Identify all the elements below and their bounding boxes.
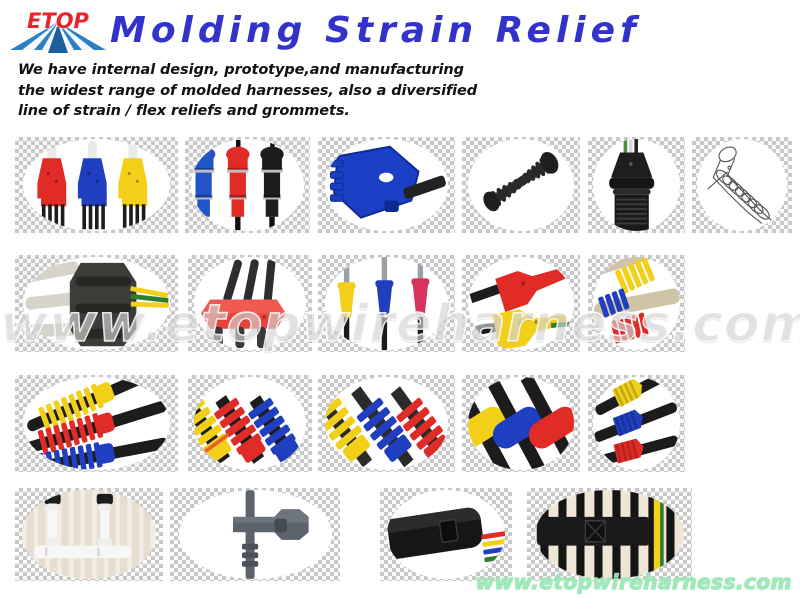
product-image-line-drawing-spring-relief[interactable]: [692, 137, 792, 233]
product-illustration: [191, 139, 304, 231]
image-vignette: [23, 139, 170, 231]
logo-wordmark-text: ETOP: [27, 9, 90, 33]
intro-paragraph: We have internal design, prototype,and m…: [18, 60, 658, 122]
image-vignette: [325, 257, 448, 350]
etop-logo: ETOP: [8, 8, 108, 60]
product-image-blue-red-yellow-accordion-reliefs[interactable]: [588, 255, 685, 352]
product-illustration: [325, 377, 448, 470]
product-illustration: [22, 490, 155, 579]
product-image-blue-red-black-round-connectors[interactable]: [185, 137, 310, 233]
product-image-red-blue-yellow-plug-overmolds[interactable]: [15, 137, 178, 233]
product-image-blue-fan-shaped-strain-relief[interactable]: [318, 137, 455, 233]
intro-line-3: line of strain / flex reliefs and gromme…: [18, 101, 658, 122]
image-vignette: [468, 257, 574, 350]
product-image-yellow-blue-red-cable-clips[interactable]: [462, 375, 580, 472]
row-2: [0, 255, 800, 352]
product-illustration: [697, 139, 787, 231]
image-vignette: [194, 377, 306, 470]
product-image-black-multi-cable-block[interactable]: [527, 488, 692, 581]
product-illustration: [593, 139, 680, 231]
product-illustration: [325, 257, 448, 350]
row-3: [0, 375, 800, 472]
product-image-white-tee-cable-mounts[interactable]: [15, 488, 163, 581]
image-vignette: [325, 377, 448, 470]
product-image-red-yellow-angled-overmolds[interactable]: [462, 255, 580, 352]
product-image-black-flat-cable-overmold[interactable]: [380, 488, 512, 581]
product-illustration: [194, 377, 306, 470]
image-vignette: [387, 490, 506, 579]
page-header: ETOP Molding Strain Relief We have inter…: [0, 0, 800, 128]
image-vignette: [593, 257, 680, 350]
page-title: Molding Strain Relief: [110, 9, 641, 53]
product-illustration: [468, 257, 574, 350]
product-image-yellow-blue-red-cable-boots[interactable]: [318, 255, 455, 352]
row-4: [0, 488, 800, 581]
image-vignette: [179, 490, 332, 579]
image-vignette: [697, 139, 787, 231]
image-vignette: [23, 377, 170, 470]
image-vignette: [593, 377, 680, 470]
product-image-black-molded-cable-gland[interactable]: [588, 137, 685, 233]
intro-line-2: the widest range of molded harnesses, al…: [18, 81, 658, 102]
product-illustration: [468, 139, 574, 231]
product-image-yellow-blue-red-slotted-reliefs[interactable]: [318, 375, 455, 472]
image-vignette: [593, 139, 680, 231]
image-vignette: [535, 490, 684, 579]
product-image-grey-cable-bracket-render[interactable]: [170, 488, 340, 581]
product-illustration: [468, 377, 574, 470]
image-vignette: [22, 490, 155, 579]
product-image-grey-multi-cable-clamp[interactable]: [15, 255, 178, 352]
image-vignette: [468, 377, 574, 470]
image-vignette: [23, 257, 170, 350]
product-illustration: [325, 139, 448, 231]
product-image-yellow-blue-red-ribbed-boots[interactable]: [588, 375, 685, 472]
product-illustration: [23, 377, 170, 470]
row-1: [0, 137, 800, 233]
product-image-yellow-red-blue-finned-reliefs[interactable]: [188, 375, 312, 472]
product-image-yellow-red-blue-spiral-reliefs[interactable]: [15, 375, 178, 472]
image-vignette: [325, 139, 448, 231]
product-illustration: [23, 257, 170, 350]
product-illustration: [194, 257, 306, 350]
product-illustration: [387, 490, 506, 579]
product-illustration: [593, 257, 680, 350]
product-illustration: [179, 490, 332, 579]
product-illustration: [535, 490, 684, 579]
product-image-red-three-way-manifold[interactable]: [188, 255, 312, 352]
intro-line-1: We have internal design, prototype,and m…: [18, 60, 658, 81]
product-illustration: [593, 377, 680, 470]
product-image-black-ribbed-double-boot[interactable]: [462, 137, 580, 233]
image-vignette: [468, 139, 574, 231]
image-vignette: [191, 139, 304, 231]
page-root: ETOP Molding Strain Relief We have inter…: [0, 0, 800, 598]
image-vignette: [194, 257, 306, 350]
product-illustration: [23, 139, 170, 231]
